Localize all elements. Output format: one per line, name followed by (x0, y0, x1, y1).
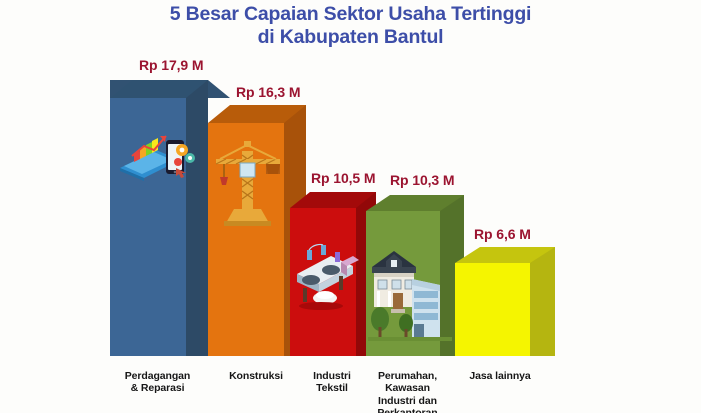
bar-front-face (208, 123, 284, 356)
bar-front-face (366, 211, 440, 356)
infographic-page: 5 Besar Capaian Sektor Usaha Tertinggi d… (0, 0, 701, 413)
category-line-3: Industri dan (360, 395, 455, 407)
category-line-4: Perkantoran (360, 407, 455, 413)
category-label-perumahan: Perumahan, Kawasan Industri dan Perkanto… (360, 370, 455, 413)
bar-front-face (455, 263, 530, 356)
category-line-1: Jasa lainnya (450, 370, 550, 382)
bar-tekstil (290, 208, 376, 356)
bar-perdagangan (110, 98, 208, 356)
bar-side-face (186, 80, 208, 356)
category-line-1: Perdagangan (105, 370, 210, 382)
value-label-perdagangan: Rp 17,9 M (139, 57, 203, 73)
value-label-perumahan: Rp 10,3 M (390, 172, 454, 188)
value-label-tekstil: Rp 10,5 M (311, 170, 375, 186)
category-line-2: Kawasan (360, 382, 455, 394)
bar-front-face (290, 208, 356, 356)
category-line-2: & Reparasi (105, 382, 210, 394)
bar-jasa (455, 263, 555, 356)
category-line-1: Perumahan, (360, 370, 455, 382)
bar-side-face (530, 247, 555, 356)
bar-front-face (110, 98, 186, 356)
value-label-konstruksi: Rp 16,3 M (236, 84, 300, 100)
category-label-jasa: Jasa lainnya (450, 370, 550, 382)
bar-chart: Rp 17,9 M (0, 0, 701, 413)
bar-perumahan (366, 211, 464, 356)
value-label-jasa: Rp 6,6 M (474, 226, 531, 242)
category-label-perdagangan: Perdagangan & Reparasi (105, 370, 210, 395)
